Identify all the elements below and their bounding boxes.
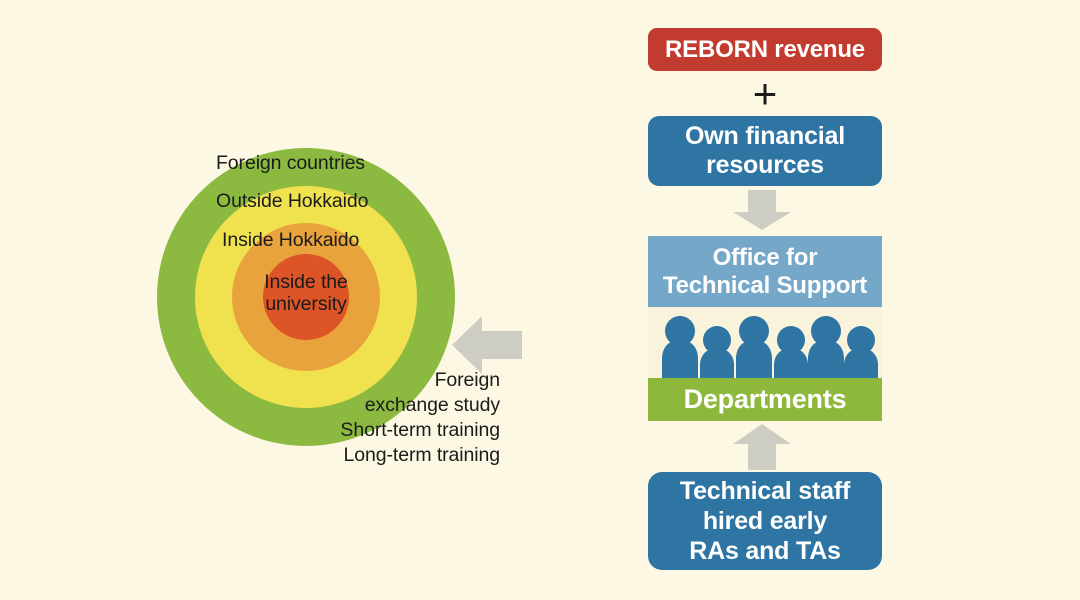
ring-label-outside-hokkaido: Outside Hokkaido xyxy=(216,190,368,212)
box-technical-staff: Technical staff hired early RAs and TAs xyxy=(648,472,882,570)
box-own-financial-resources-label: Own financial resources xyxy=(648,122,882,180)
plus-sign: + xyxy=(648,74,882,114)
training-modes-list: Foreign exchange study Short-term traini… xyxy=(296,368,500,468)
office-header: Office for Technical Support xyxy=(648,236,882,307)
departments-band: Departments xyxy=(648,378,882,421)
person-icon xyxy=(772,326,810,378)
arrow-left-icon xyxy=(452,316,522,374)
training-reach-panel: Foreign countries Outside Hokkaido Insid… xyxy=(0,0,600,600)
diagram-canvas: Foreign countries Outside Hokkaido Insid… xyxy=(0,0,1080,600)
person-icon xyxy=(842,326,880,378)
ring-label-foreign-countries: Foreign countries xyxy=(216,152,365,174)
box-reborn-revenue-label: REBORN revenue xyxy=(648,36,882,64)
departments-label: Departments xyxy=(684,384,847,415)
box-technical-staff-label: Technical staff hired early RAs and TAs xyxy=(648,476,882,566)
person-icon xyxy=(806,316,846,378)
funding-flow-panel: REBORN revenue + Own financial resources… xyxy=(600,0,1080,600)
arrow-up-icon xyxy=(733,424,791,470)
people-band xyxy=(648,307,882,378)
office-header-label: Office for Technical Support xyxy=(663,244,867,300)
box-reborn-revenue: REBORN revenue xyxy=(648,28,882,71)
person-icon xyxy=(660,316,700,378)
person-icon xyxy=(734,316,774,378)
arrow-down-icon xyxy=(733,190,791,230)
ring-label-inside-university: Inside the university xyxy=(247,271,365,315)
person-icon xyxy=(698,326,736,378)
office-departments-block: Office for Technical Support xyxy=(648,236,882,421)
box-own-financial-resources: Own financial resources xyxy=(648,116,882,186)
ring-label-inside-hokkaido: Inside Hokkaido xyxy=(222,229,359,251)
